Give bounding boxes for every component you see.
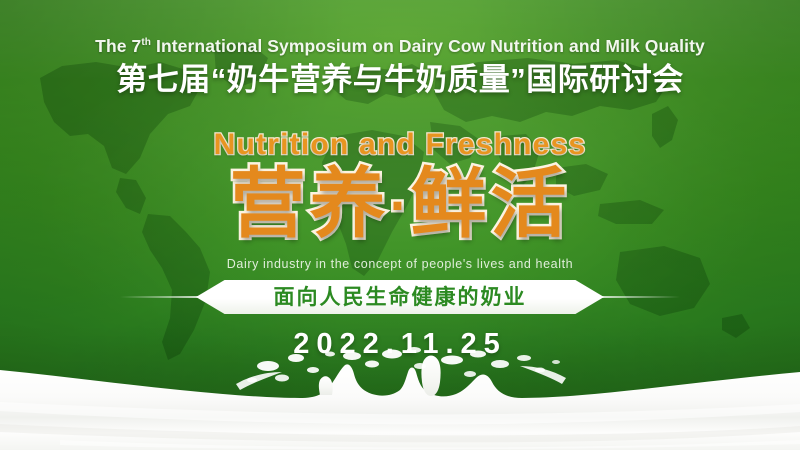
symposium-ordinal-suffix: th (141, 37, 151, 48)
milk-splash-icon (0, 340, 800, 450)
conference-poster: The 7th International Symposium on Dairy… (0, 0, 800, 450)
ribbon-text-cn: 面向人民生命健康的奶业 (274, 287, 527, 308)
slogan-chinese-left: 营养 (230, 162, 390, 247)
ribbon-banner: 面向人民生命健康的奶业 (0, 280, 800, 314)
symposium-title-cn: 第七届“奶牛营养与牛奶质量”国际研讨会 (0, 62, 800, 98)
subtitle-english: Dairy industry in the concept of people'… (0, 258, 800, 271)
slogan-chinese-right: 鲜活 (410, 162, 570, 247)
symposium-title-en-lead: The 7 (95, 36, 141, 56)
ribbon-rule-right (600, 296, 680, 298)
slogan-chinese: 营养·鲜活 (0, 163, 800, 247)
symposium-title-en-rest: International Symposium on Dairy Cow Nut… (151, 36, 705, 56)
slogan-english: Nutrition and Freshness (0, 130, 800, 160)
slogan-separator-dot: · (390, 173, 411, 236)
ribbon-shape: 面向人民生命健康的奶业 (196, 280, 604, 314)
symposium-title-en: The 7th International Symposium on Dairy… (0, 38, 800, 56)
ribbon-rule-left (120, 296, 200, 298)
poster-header: The 7th International Symposium on Dairy… (0, 38, 800, 97)
